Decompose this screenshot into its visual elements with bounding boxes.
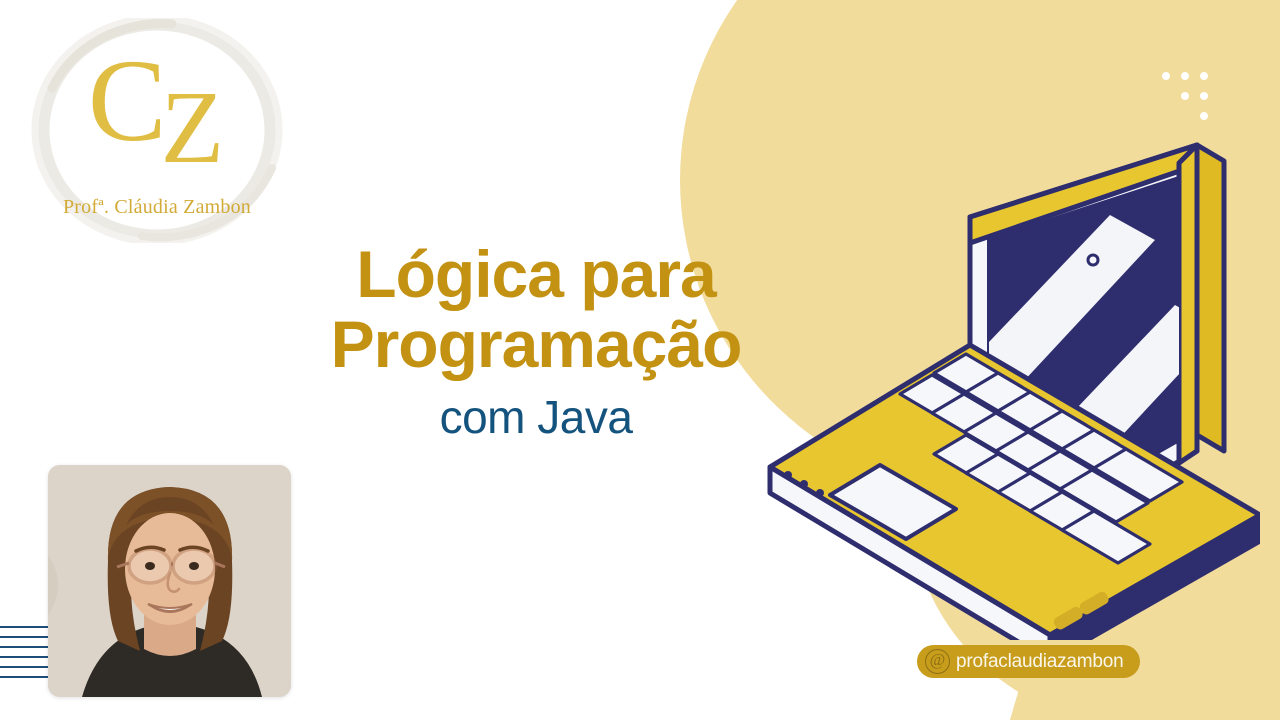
portrait-illustration <box>48 465 291 697</box>
horizontal-lines-icon <box>0 626 50 682</box>
slide-canvas: CZ Profª. Cláudia Zambon Lógica para Pro… <box>0 0 1280 720</box>
brand-logo: CZ Profª. Cláudia Zambon <box>22 18 292 243</box>
subtitle-line: com Java <box>236 390 836 444</box>
title-line-2: Programação <box>236 310 836 380</box>
social-handle-text: profaclaudiazambon <box>956 651 1124 673</box>
logo-monogram: CZ <box>22 42 292 160</box>
title-line-1: Lógica para <box>236 240 836 310</box>
at-icon: @ <box>925 649 950 674</box>
logo-name: Profª. Cláudia Zambon <box>22 196 292 219</box>
avatar <box>48 465 291 697</box>
logo-monogram-c: C <box>88 35 165 166</box>
title-block: Lógica para Programação com Java <box>236 240 836 444</box>
isometric-laptop-illustration <box>760 95 1260 640</box>
social-handle-badge[interactable]: @ profaclaudiazambon <box>917 645 1140 678</box>
logo-monogram-z: Z <box>161 70 223 185</box>
